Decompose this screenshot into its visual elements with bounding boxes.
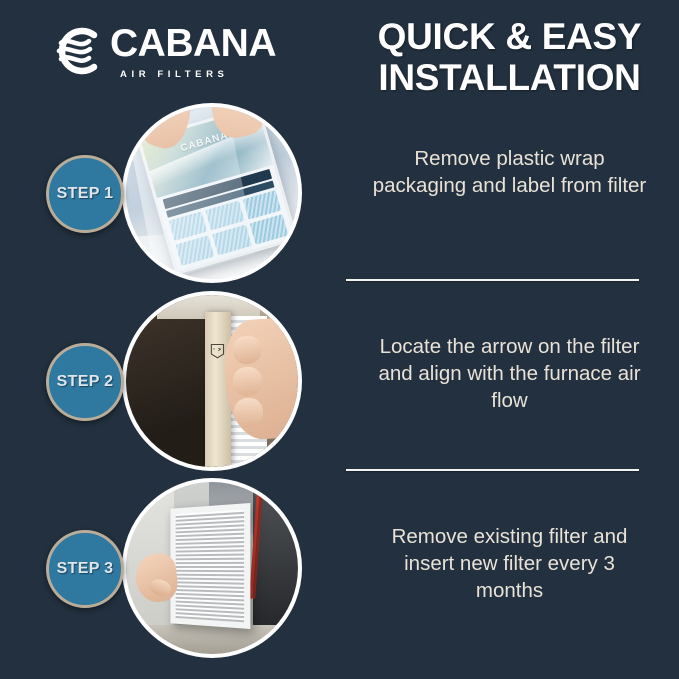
step-1-photo: CABANA: [122, 103, 302, 283]
step-1-badge: STEP 1: [46, 155, 124, 233]
step-2-badge-label: STEP 2: [57, 373, 114, 391]
air-flow-arrow-icon: A F: [208, 340, 227, 362]
step-2-badge: STEP 2: [46, 343, 124, 421]
page-title: QUICK & EASY INSTALLATION: [340, 16, 679, 98]
headline-line-2: INSTALLATION: [340, 57, 679, 98]
cabana-wave-c-logo-icon: [52, 26, 108, 76]
svg-text:A: A: [216, 347, 222, 351]
step-row-3: STEP 3: [0, 478, 340, 658]
step-3-badge: STEP 3: [46, 530, 124, 608]
left-column: CABANA AIR FILTERS CABANA: [0, 0, 340, 679]
right-column: QUICK & EASY INSTALLATION Remove plastic…: [340, 0, 679, 679]
section-divider-1: [346, 279, 639, 281]
svg-text:F: F: [212, 348, 216, 350]
step-3-badge-label: STEP 3: [57, 560, 114, 578]
step-3-instruction: Remove existing filter and insert new fi…: [368, 523, 651, 604]
section-divider-2: [346, 469, 639, 471]
headline-line-1: QUICK & EASY: [340, 16, 679, 57]
brand-tagline: AIR FILTERS: [110, 69, 228, 80]
step-1-badge-label: STEP 1: [57, 185, 114, 203]
step-2-photo: A F: [122, 291, 302, 471]
step-1-instruction: Remove plastic wrap packaging and label …: [368, 145, 651, 199]
brand-name: CABANA: [110, 22, 276, 65]
step-2-instruction: Locate the arrow on the filter and align…: [368, 333, 651, 414]
step-row-1: CABANA STEP 1: [0, 103, 340, 283]
brand-logo: CABANA AIR FILTERS: [52, 24, 302, 82]
step-3-photo: [122, 478, 302, 658]
step-row-2: A F STEP 2: [0, 291, 340, 471]
white-filter-graphic: [171, 503, 251, 629]
